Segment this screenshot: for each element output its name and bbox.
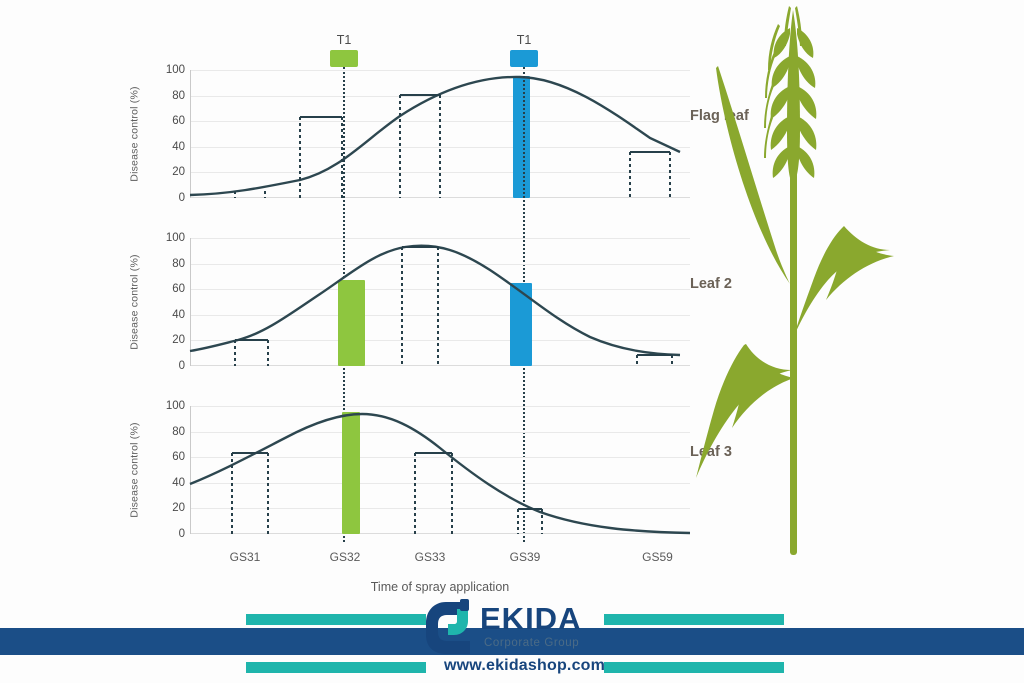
- footer-teal-bar-top-left: [246, 614, 426, 625]
- y-tick: 20: [172, 334, 185, 346]
- footer-teal-bar-bottom-right: [604, 662, 784, 673]
- plot-area-3: 100 80 60 40 20 0: [190, 406, 690, 534]
- ekida-logo-url: www.ekidashop.com: [444, 657, 605, 675]
- y-tick: 80: [172, 258, 185, 270]
- ekida-logo-text: EKIDA: [480, 603, 581, 634]
- y-tick: 0: [179, 528, 185, 540]
- x-tick-gs33: GS33: [415, 550, 446, 564]
- x-axis: GS31 GS32 GS33 GS39 GS59 Time of spray a…: [190, 550, 690, 600]
- footer-teal-bar-top-right: [604, 614, 784, 625]
- footer-branding-bar: EKIDA Corporate Group www.ekidashop.com: [0, 600, 1024, 683]
- y-axis-label-3: Disease control (%): [126, 406, 144, 534]
- panel-leaf-3: Disease control (%) 100 80 60 40 20 0: [130, 406, 690, 534]
- ekida-logo[interactable]: EKIDA Corporate Group www.ekidashop.com: [424, 597, 606, 683]
- y-tick: 100: [166, 400, 185, 412]
- t1-label-blue: T1: [517, 33, 532, 47]
- reference-brackets-2: [190, 238, 690, 366]
- y-tick: 0: [179, 192, 185, 204]
- y-tick: 60: [172, 283, 185, 295]
- multi-panel-chart: Disease control (%) 100 80 60 40 20 0: [0, 0, 710, 610]
- ekida-logo-tagline: Corporate Group: [484, 637, 579, 649]
- y-tick: 0: [179, 360, 185, 372]
- y-tick: 20: [172, 502, 185, 514]
- wheat-plant-illustration: [694, 0, 1024, 600]
- panel-leaf-2: Disease control (%) 100 80 60 40 20 0: [130, 238, 690, 366]
- x-tick-gs39: GS39: [510, 550, 541, 564]
- y-axis-label-2: Disease control (%): [126, 238, 144, 366]
- y-tick: 80: [172, 90, 185, 102]
- figure-canvas: Disease control (%) 100 80 60 40 20 0: [0, 0, 1024, 683]
- y-tick: 100: [166, 232, 185, 244]
- y-tick: 40: [172, 477, 185, 489]
- y-tick: 60: [172, 115, 185, 127]
- y-tick: 40: [172, 309, 185, 321]
- reference-brackets-3: [190, 406, 690, 534]
- plot-area-2: 100 80 60 40 20 0: [190, 238, 690, 366]
- x-tick-gs31: GS31: [230, 550, 261, 564]
- y-tick: 60: [172, 451, 185, 463]
- y-tick: 40: [172, 141, 185, 153]
- x-tick-gs32: GS32: [330, 550, 361, 564]
- t1-swatch-green: [330, 50, 358, 67]
- reference-brackets-1: [190, 70, 690, 198]
- footer-teal-bar-bottom-left: [246, 662, 426, 673]
- panel-flag-leaf: Disease control (%) 100 80 60 40 20 0: [130, 70, 690, 198]
- plot-area-1: 100 80 60 40 20 0: [190, 70, 690, 198]
- y-tick: 20: [172, 166, 185, 178]
- y-tick: 100: [166, 64, 185, 76]
- x-tick-gs59: GS59: [642, 550, 673, 564]
- y-axis-label-1: Disease control (%): [126, 70, 144, 198]
- x-axis-title: Time of spray application: [190, 580, 690, 594]
- t1-label-green: T1: [337, 33, 352, 47]
- ekida-logo-mark: [424, 599, 478, 655]
- t1-swatch-blue: [510, 50, 538, 67]
- y-tick: 80: [172, 426, 185, 438]
